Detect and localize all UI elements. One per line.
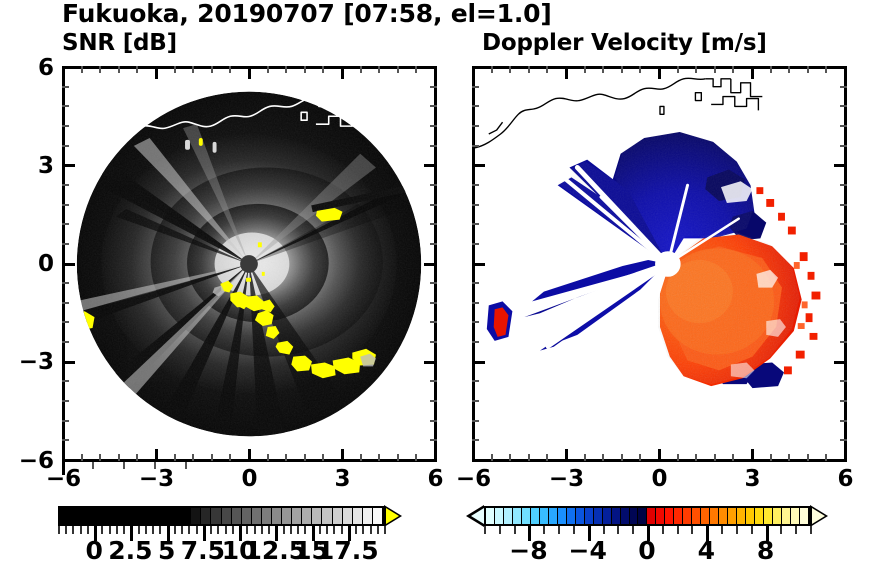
snr-xtick-major-top-1 xyxy=(155,66,158,79)
snr-xtick-minor-top-2-2 xyxy=(285,66,287,73)
dop-ytick-minor-right-2-1 xyxy=(840,282,847,284)
snr-yticklabel-4: −6 xyxy=(8,448,54,474)
snr-ytick-minor-left-0-4 xyxy=(62,145,69,147)
colorbar-cell xyxy=(764,508,773,524)
snr-ytick-minor-right-1-4 xyxy=(430,243,437,245)
colorbar-cell xyxy=(531,508,540,524)
colorbar-tick-label: 7.5 xyxy=(181,536,225,565)
colorbar-cell xyxy=(90,508,100,524)
colorbar-tick-label: 0 xyxy=(86,536,103,565)
snr-xtick-minor-top-2-4 xyxy=(322,66,324,73)
snr-ytick-major-right-3 xyxy=(424,361,437,364)
snr-xtick-minor-bottom-1-1 xyxy=(174,454,176,461)
dop-xtick-minor-top-3-2 xyxy=(788,66,790,73)
snr-ytick-minor-right-3-1 xyxy=(430,380,437,382)
colorbar-minor-tick xyxy=(691,526,693,534)
dop-xtick-minor-bottom-3-3 xyxy=(807,454,809,461)
colorbar-minor-tick xyxy=(65,526,67,534)
colorbar-minor-tick xyxy=(174,526,176,534)
snr-yticklabel-0: 6 xyxy=(8,55,54,81)
snr-xtick-minor-bottom-3-4 xyxy=(415,454,417,461)
dop-ytick-minor-left-3-3 xyxy=(472,420,479,422)
colorbar-cell xyxy=(211,508,221,524)
snr-ytick-minor-right-2-1 xyxy=(430,282,437,284)
snr-ytick-minor-left-0-2 xyxy=(62,105,69,107)
doppler-colorbar[interactable] xyxy=(470,506,810,526)
dop-ytick-minor-left-1-3 xyxy=(472,223,479,225)
colorbar-cell xyxy=(151,508,161,524)
dop-ytick-minor-left-2-4 xyxy=(472,341,479,343)
colorbar-cell xyxy=(131,508,141,524)
colorbar-minor-tick xyxy=(138,526,140,534)
colorbar-minor-tick xyxy=(573,526,575,534)
snr-ytick-minor-left-3-2 xyxy=(62,400,69,402)
snr-ytick-minor-left-2-4 xyxy=(62,341,69,343)
snr-xtick-minor-bottom-2-3 xyxy=(304,454,306,461)
dop-ytick-major-right-0 xyxy=(834,66,847,69)
dop-ytick-minor-right-2-4 xyxy=(840,341,847,343)
snr-ytick-minor-right-3-3 xyxy=(430,420,437,422)
panel-title-snr: SNR [dB] xyxy=(62,28,177,58)
dop-ytick-minor-right-0-2 xyxy=(840,105,847,107)
snr-ytick-minor-left-1-1 xyxy=(62,184,69,186)
snr-xtick-minor-top-1-1 xyxy=(174,66,176,73)
snr-ytick-minor-left-1-2 xyxy=(62,204,69,206)
colorbar-tick-label: 0 xyxy=(638,536,655,565)
colorbar-minor-tick xyxy=(246,526,248,534)
dop-xtick-minor-top-2-4 xyxy=(732,66,734,73)
snr-ytick-minor-left-1-3 xyxy=(62,223,69,225)
snr-ytick-minor-left-0-3 xyxy=(62,125,69,127)
colorbar-cell xyxy=(272,508,282,524)
colorbar-tick-label: −4 xyxy=(569,536,607,565)
dop-xtick-minor-bottom-3-4 xyxy=(825,454,827,461)
colorbar-cell xyxy=(540,508,549,524)
colorbar-minor-tick xyxy=(210,526,212,534)
snr-ytick-minor-right-1-3 xyxy=(430,223,437,225)
snr-xtick-major-top-3 xyxy=(341,66,344,79)
colorbar-cell xyxy=(710,508,719,524)
dop-ytick-minor-right-3-1 xyxy=(840,380,847,382)
snr-colorbar-gradient xyxy=(58,506,384,526)
colorbar-cell xyxy=(800,508,808,524)
dop-xtick-major-bottom-2 xyxy=(658,449,661,462)
snr-ytick-minor-right-2-2 xyxy=(430,302,437,304)
snr-ytick-minor-right-2-3 xyxy=(430,321,437,323)
snr-xtick-major-top-2 xyxy=(248,66,251,79)
snr-ytick-minor-left-2-1 xyxy=(62,282,69,284)
colorbar-minor-tick xyxy=(290,526,292,534)
dop-ytick-minor-right-3-4 xyxy=(840,439,847,441)
colorbar-minor-tick xyxy=(514,526,516,534)
doppler-radar-hole xyxy=(655,251,681,277)
dop-xtick-minor-bottom-0-2 xyxy=(509,454,511,461)
colorbar-cell xyxy=(343,508,353,524)
dop-ytick-minor-left-2-3 xyxy=(472,321,479,323)
dop-ytick-major-left-4 xyxy=(472,459,485,462)
colorbar-tick-label: 5 xyxy=(158,536,175,565)
dop-xtick-minor-top-3-1 xyxy=(770,66,772,73)
colorbar-minor-tick xyxy=(225,526,227,534)
colorbar-cell xyxy=(70,508,80,524)
colorbar-minor-tick xyxy=(145,526,147,534)
snr-ytick-minor-right-0-3 xyxy=(430,125,437,127)
dop-xtick-minor-bottom-2-3 xyxy=(714,454,716,461)
dop-ytick-minor-left-1-1 xyxy=(472,184,479,186)
snr-yticklabel-2: 0 xyxy=(8,251,54,277)
dop-xtick-minor-bottom-1-1 xyxy=(584,454,586,461)
snr-xtick-minor-top-1-2 xyxy=(192,66,194,73)
colorbar-tick-label: 17.5 xyxy=(317,536,379,565)
colorbar-minor-tick xyxy=(217,526,219,534)
dop-xtick-major-bottom-1 xyxy=(565,449,568,462)
snr-ytick-minor-left-0-1 xyxy=(62,86,69,88)
colorbar-cell xyxy=(692,508,701,524)
colorbar-cell xyxy=(773,508,782,524)
snr-xtick-minor-bottom-1-2 xyxy=(192,454,194,461)
snr-xtick-major-bottom-1 xyxy=(155,449,158,462)
colorbar-minor-tick xyxy=(721,526,723,534)
dop-xtick-minor-top-1-1 xyxy=(584,66,586,73)
colorbar-cell xyxy=(746,508,755,524)
colorbar-cell xyxy=(373,508,382,524)
snr-ytick-minor-right-0-4 xyxy=(430,145,437,147)
colorbar-tick-label: −8 xyxy=(509,536,547,565)
colorbar-minor-tick xyxy=(268,526,270,534)
colorbar-minor-tick xyxy=(355,526,357,534)
colorbar-cell xyxy=(171,508,181,524)
snr-ytick-minor-left-3-4 xyxy=(62,439,69,441)
colorbar-minor-tick xyxy=(304,526,306,534)
snr-xtick-minor-bottom-3-3 xyxy=(397,454,399,461)
snr-ytick-major-left-0 xyxy=(62,66,75,69)
dop-xtick-minor-bottom-3-2 xyxy=(788,454,790,461)
colorbar-cell xyxy=(252,508,262,524)
dop-ytick-minor-right-2-2 xyxy=(840,302,847,304)
snr-xtick-minor-top-3-3 xyxy=(397,66,399,73)
colorbar-cell xyxy=(683,508,692,524)
colorbar-cell xyxy=(121,508,131,524)
snr-xticklabel-1: −3 xyxy=(139,466,174,492)
snr-xtick-minor-top-0-1 xyxy=(81,66,83,73)
snr-ytick-minor-left-3-1 xyxy=(62,380,69,382)
snr-xtick-minor-top-2-3 xyxy=(304,66,306,73)
colorbar-minor-tick xyxy=(751,526,753,534)
snr-xtick-minor-bottom-3-1 xyxy=(360,454,362,461)
dop-ytick-minor-right-1-4 xyxy=(840,243,847,245)
colorbar-cell xyxy=(292,508,302,524)
colorbar-minor-tick xyxy=(780,526,782,534)
colorbar-cell xyxy=(737,508,746,524)
colorbar-minor-tick xyxy=(384,526,386,534)
dop-ytick-minor-left-0-2 xyxy=(472,105,479,107)
snr-ytick-major-right-0 xyxy=(424,66,437,69)
dop-ytick-major-left-1 xyxy=(472,164,485,167)
colorbar-cell xyxy=(621,508,630,524)
colorbar-tick-label: 2.5 xyxy=(108,536,152,565)
colorbar-cell xyxy=(549,508,558,524)
dop-xtick-minor-bottom-2-4 xyxy=(732,454,734,461)
colorbar-minor-tick xyxy=(319,526,321,534)
dop-xtick-minor-bottom-1-4 xyxy=(639,454,641,461)
colorbar-cell xyxy=(576,508,585,524)
dop-xtick-minor-bottom-1-2 xyxy=(602,454,604,461)
dop-xticklabel-2: 0 xyxy=(651,466,667,492)
colorbar-minor-tick xyxy=(261,526,263,534)
colorbar-cell xyxy=(701,508,710,524)
snr-ytick-major-left-4 xyxy=(62,459,75,462)
colorbar-cell xyxy=(222,508,232,524)
colorbar-minor-tick xyxy=(326,526,328,534)
snr-ytick-minor-right-0-2 xyxy=(430,105,437,107)
dop-ytick-minor-left-0-4 xyxy=(472,145,479,147)
dop-ytick-minor-right-1-3 xyxy=(840,223,847,225)
snr-ytick-minor-right-3-2 xyxy=(430,400,437,402)
dop-xticklabel-4: 6 xyxy=(837,466,853,492)
colorbar-minor-tick xyxy=(677,526,679,534)
dop-ytick-minor-right-1-2 xyxy=(840,204,847,206)
colorbar-cell xyxy=(558,508,567,524)
colorbar-minor-tick xyxy=(377,526,379,534)
colorbar-minor-tick xyxy=(341,526,343,534)
snr-xtick-minor-bottom-0-1 xyxy=(81,454,83,461)
colorbar-cell xyxy=(638,508,647,524)
doppler-colorbar-under-fill xyxy=(471,508,484,524)
colorbar-cell xyxy=(80,508,90,524)
colorbar-minor-tick xyxy=(152,526,154,534)
colorbar-minor-tick xyxy=(543,526,545,534)
colorbar-cell xyxy=(353,508,363,524)
colorbar-cell xyxy=(594,508,603,524)
snr-xtick-minor-bottom-3-2 xyxy=(378,454,380,461)
colorbar-tick-label: 8 xyxy=(757,536,774,565)
snr-xtick-minor-top-0-3 xyxy=(118,66,120,73)
snr-ytick-minor-right-3-4 xyxy=(430,439,437,441)
colorbar-cell xyxy=(161,508,171,524)
dop-xticklabel-3: 3 xyxy=(744,466,760,492)
colorbar-cell xyxy=(603,508,612,524)
snr-ytick-major-left-3 xyxy=(62,361,75,364)
snr-ytick-minor-left-3-3 xyxy=(62,420,69,422)
snr-xtick-minor-bottom-1-3 xyxy=(211,454,213,461)
doppler-colorbar-gradient xyxy=(484,506,810,526)
colorbar-minor-tick xyxy=(254,526,256,534)
dop-xtick-minor-bottom-0-3 xyxy=(528,454,530,461)
dop-ytick-minor-right-0-4 xyxy=(840,145,847,147)
colorbar-minor-tick xyxy=(810,526,812,534)
doppler-colorbar-over-fill xyxy=(812,508,825,524)
dop-xtick-minor-bottom-2-1 xyxy=(677,454,679,461)
colorbar-minor-tick xyxy=(58,526,60,534)
colorbar-minor-tick xyxy=(603,526,605,534)
colorbar-minor-tick xyxy=(333,526,335,534)
dop-ytick-minor-left-2-1 xyxy=(472,282,479,284)
colorbar-cell xyxy=(191,508,201,524)
snr-ytick-minor-right-1-2 xyxy=(430,204,437,206)
colorbar-minor-tick xyxy=(159,526,161,534)
colorbar-cell xyxy=(60,508,70,524)
snr-xtick-minor-bottom-0-2 xyxy=(99,454,101,461)
snr-xtick-minor-top-0-2 xyxy=(99,66,101,73)
dop-ytick-major-left-2 xyxy=(472,263,485,266)
snr-ytick-minor-left-1-4 xyxy=(62,243,69,245)
colorbar-cell xyxy=(322,508,332,524)
colorbar-minor-tick xyxy=(188,526,190,534)
dop-xtick-minor-bottom-0-1 xyxy=(491,454,493,461)
colorbar-cell xyxy=(110,508,120,524)
dop-ytick-minor-left-1-4 xyxy=(472,243,479,245)
dop-ytick-minor-right-0-3 xyxy=(840,125,847,127)
snr-xtick-minor-top-0-4 xyxy=(136,66,138,73)
snr-xtick-minor-bottom-2-4 xyxy=(322,454,324,461)
panel-title-doppler: Doppler Velocity [m/s] xyxy=(482,28,767,58)
colorbar-minor-tick xyxy=(662,526,664,534)
dop-xtick-major-top-2 xyxy=(658,66,661,79)
colorbar-minor-tick xyxy=(370,526,372,534)
colorbar-cell xyxy=(495,508,504,524)
colorbar-cell xyxy=(262,508,272,524)
dop-xtick-minor-top-0-4 xyxy=(546,66,548,73)
plot-area-snr[interactable] xyxy=(62,66,437,462)
colorbar-minor-tick xyxy=(109,526,111,534)
colorbar-cell xyxy=(100,508,110,524)
colorbar-minor-tick xyxy=(558,526,560,534)
snr-colorbar[interactable] xyxy=(58,506,398,526)
colorbar-cell xyxy=(333,508,343,524)
snr-ytick-major-right-1 xyxy=(424,164,437,167)
dop-ytick-major-right-1 xyxy=(834,164,847,167)
colorbar-cell xyxy=(302,508,312,524)
dop-ytick-minor-right-1-1 xyxy=(840,184,847,186)
dop-xtick-minor-top-2-1 xyxy=(677,66,679,73)
colorbar-minor-tick xyxy=(484,526,486,534)
snr-xtick-minor-bottom-0-4 xyxy=(136,454,138,461)
snr-ytick-major-left-1 xyxy=(62,164,75,167)
snr-xtick-minor-top-1-3 xyxy=(211,66,213,73)
dop-xtick-minor-top-3-4 xyxy=(825,66,827,73)
colorbar-cell xyxy=(755,508,764,524)
dop-xtick-minor-top-1-4 xyxy=(639,66,641,73)
colorbar-minor-tick xyxy=(101,526,103,534)
dop-xtick-minor-bottom-3-1 xyxy=(770,454,772,461)
snr-ytick-major-left-2 xyxy=(62,263,75,266)
colorbar-cell xyxy=(656,508,665,524)
snr-xtick-minor-top-3-1 xyxy=(360,66,362,73)
snr-xticklabel-4: 6 xyxy=(427,466,443,492)
dop-xtick-minor-top-2-2 xyxy=(695,66,697,73)
colorbar-cell xyxy=(312,508,322,524)
colorbar-minor-tick xyxy=(362,526,364,534)
colorbar-cell xyxy=(647,508,656,524)
dop-ytick-minor-right-3-2 xyxy=(840,400,847,402)
snr-yticklabel-3: −3 xyxy=(8,349,54,375)
snr-colorbar-over-fill xyxy=(386,508,399,524)
colorbar-minor-tick xyxy=(232,526,234,534)
colorbar-cell xyxy=(363,508,373,524)
dop-xtick-minor-top-1-3 xyxy=(621,66,623,73)
colorbar-cell xyxy=(630,508,639,524)
colorbar-cell xyxy=(728,508,737,524)
dop-xticklabel-0: −6 xyxy=(456,466,491,492)
dop-ytick-minor-left-2-2 xyxy=(472,302,479,304)
snr-ytick-major-right-4 xyxy=(424,459,437,462)
snr-ytick-major-right-2 xyxy=(424,263,437,266)
dop-ytick-minor-right-3-3 xyxy=(840,420,847,422)
plot-area-doppler[interactable] xyxy=(472,66,847,462)
colorbar-minor-tick xyxy=(283,526,285,534)
dop-xtick-major-top-3 xyxy=(751,66,754,79)
colorbar-cell xyxy=(513,508,522,524)
snr-yticklabel-1: 3 xyxy=(8,153,54,179)
snr-ytick-minor-right-1-1 xyxy=(430,184,437,186)
snr-xtick-major-bottom-2 xyxy=(248,449,251,462)
colorbar-minor-tick xyxy=(181,526,183,534)
dop-ytick-major-right-4 xyxy=(834,459,847,462)
dop-xtick-minor-bottom-1-3 xyxy=(621,454,623,461)
colorbar-cell xyxy=(201,508,211,524)
dop-xtick-minor-top-0-3 xyxy=(528,66,530,73)
figure-canvas: Fukuoka, 20190707 [07:58, el=1.0] SNR [d… xyxy=(0,0,870,570)
colorbar-minor-tick xyxy=(617,526,619,534)
snr-xtick-minor-top-1-4 xyxy=(229,66,231,73)
colorbar-cell xyxy=(181,508,191,524)
colorbar-cell xyxy=(612,508,621,524)
colorbar-minor-tick xyxy=(123,526,125,534)
doppler-image xyxy=(475,69,844,459)
dop-ytick-minor-left-0-3 xyxy=(472,125,479,127)
dop-ytick-major-left-3 xyxy=(472,361,485,364)
snr-ytick-minor-right-2-4 xyxy=(430,341,437,343)
dop-xtick-minor-bottom-2-2 xyxy=(695,454,697,461)
colorbar-minor-tick xyxy=(116,526,118,534)
dop-ytick-major-right-3 xyxy=(834,361,847,364)
dop-ytick-major-right-2 xyxy=(834,263,847,266)
colorbar-cell xyxy=(585,508,594,524)
dop-ytick-minor-right-2-3 xyxy=(840,321,847,323)
colorbar-cell xyxy=(665,508,674,524)
colorbar-minor-tick xyxy=(196,526,198,534)
dop-ytick-minor-left-0-1 xyxy=(472,86,479,88)
snr-xtick-minor-bottom-2-2 xyxy=(285,454,287,461)
snr-xtick-minor-bottom-2-1 xyxy=(267,454,269,461)
snr-xtick-minor-top-2-1 xyxy=(267,66,269,73)
snr-ytick-minor-left-2-3 xyxy=(62,321,69,323)
colorbar-cell xyxy=(232,508,242,524)
dop-ytick-major-left-0 xyxy=(472,66,485,69)
colorbar-minor-tick xyxy=(87,526,89,534)
snr-xtick-minor-bottom-1-4 xyxy=(229,454,231,461)
snr-xticklabel-2: 0 xyxy=(241,466,257,492)
colorbar-minor-tick xyxy=(736,526,738,534)
dop-ytick-minor-left-3-2 xyxy=(472,400,479,402)
colorbar-minor-tick xyxy=(297,526,299,534)
colorbar-cell xyxy=(282,508,292,524)
dop-xticklabel-1: −3 xyxy=(549,466,584,492)
colorbar-cell xyxy=(719,508,728,524)
snr-xtick-major-bottom-3 xyxy=(341,449,344,462)
dop-xtick-minor-top-0-2 xyxy=(509,66,511,73)
colorbar-cell xyxy=(567,508,576,524)
colorbar-cell xyxy=(504,508,513,524)
colorbar-cell xyxy=(486,508,495,524)
colorbar-cell xyxy=(242,508,252,524)
figure-title: Fukuoka, 20190707 [07:58, el=1.0] xyxy=(62,0,622,28)
colorbar-minor-tick xyxy=(499,526,501,534)
colorbar-cell xyxy=(674,508,683,524)
colorbar-cell xyxy=(791,508,800,524)
colorbar-minor-tick xyxy=(632,526,634,534)
snr-ytick-minor-left-2-2 xyxy=(62,302,69,304)
